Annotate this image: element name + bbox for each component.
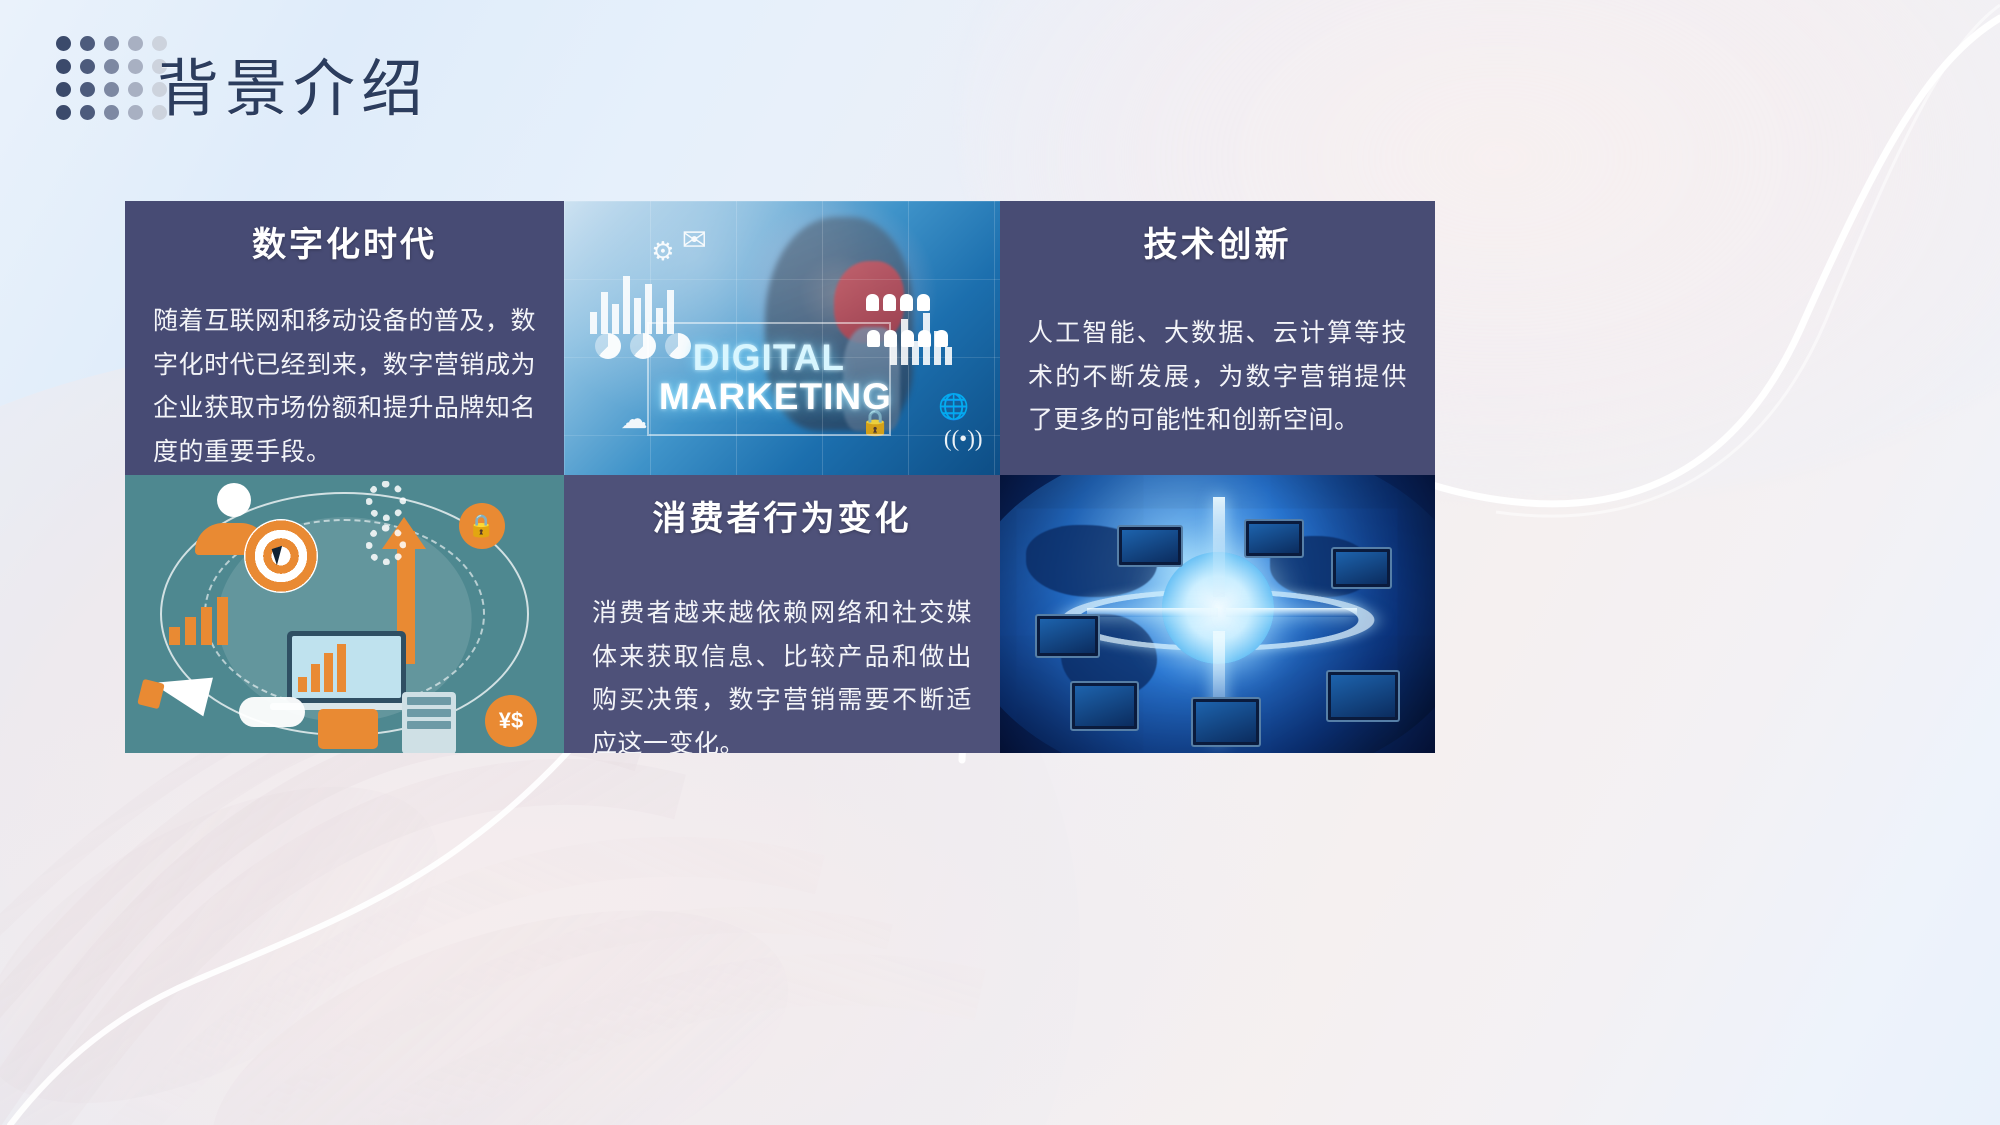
content-grid: 数字化时代 随着互联网和移动设备的普及，数字化时代已经到来，数字营销成为企业获取… [125, 201, 1435, 753]
bar-chart-icon [169, 597, 228, 645]
grid-dot [104, 59, 119, 74]
wallet-icon [318, 709, 378, 749]
grid-dot [80, 82, 95, 97]
data-beam [1226, 608, 1357, 617]
grid-dot [56, 105, 71, 120]
digital-marketing-label: DIGITAL MARKETING [647, 322, 891, 436]
card-title-digital-era: 数字化时代 [153, 227, 536, 264]
laptop-icon [1035, 614, 1100, 658]
grid-dot [128, 82, 143, 97]
lock-icon: 🔒 [459, 503, 505, 549]
label-line-1: DIGITAL [659, 338, 879, 377]
card-tech-innovation[interactable]: 技术创新 人工智能、大数据、云计算等技术的不断发展，为数字营销提供了更多的可能性… [1000, 201, 1435, 475]
data-beam [1213, 497, 1225, 597]
person-head-icon [217, 483, 251, 517]
card-digital-era[interactable]: 数字化时代 随着互联网和移动设备的普及，数字化时代已经到来，数字营销成为企业获取… [125, 201, 564, 475]
card-title-tech-innovation: 技术创新 [1028, 227, 1407, 264]
label-line-2: MARKETING [659, 377, 879, 416]
grid-dot [56, 82, 71, 97]
calculator-icon [402, 692, 456, 753]
card-consumer-behavior[interactable]: 消费者行为变化 消费者越来越依赖网络和社交媒体来获取信息、比较产品和做出购买决策… [564, 475, 1000, 753]
marketing-infographic: 🔒 ¥$ [125, 475, 564, 753]
laptop-icon [1331, 547, 1392, 589]
digital-marketing-photo: ✉ ⚙ ☁ 🔒 🌐 ((•)) DIGITAL MARKETING [564, 201, 1000, 475]
grid-dot [80, 36, 95, 51]
grid-dot [104, 36, 119, 51]
slide-header: 背景介绍 [0, 0, 2000, 170]
laptop-icon [1191, 697, 1261, 747]
gears-icon [366, 481, 406, 569]
global-network-photo [1000, 475, 1435, 753]
card-title-consumer-behavior: 消费者行为变化 [592, 501, 972, 538]
grid-dot [80, 105, 95, 120]
globe-icon: 🌐 [938, 393, 969, 422]
laptop-icon [1117, 525, 1182, 567]
card-body-consumer-behavior: 消费者越来越依赖网络和社交媒体来获取信息、比较产品和做出购买决策，数字营销需要不… [592, 592, 972, 753]
grid-dot [80, 59, 95, 74]
grid-dot [104, 82, 119, 97]
grid-dot [128, 105, 143, 120]
handshake-icon [239, 697, 305, 727]
card-body-digital-era: 随着互联网和移动设备的普及，数字化时代已经到来，数字营销成为企业获取市场份额和提… [153, 300, 536, 474]
laptop-icon [1070, 681, 1140, 731]
page-title: 背景介绍 [157, 38, 429, 128]
card-body-tech-innovation: 人工智能、大数据、云计算等技术的不断发展，为数字营销提供了更多的可能性和创新空间… [1028, 312, 1407, 443]
grid-dot [104, 105, 119, 120]
grid-dot [56, 59, 71, 74]
image-tile-global-network[interactable] [1000, 475, 1435, 753]
laptop-icon [287, 631, 406, 703]
grid-dot [56, 36, 71, 51]
image-tile-marketing-infographic[interactable]: 🔒 ¥$ [125, 475, 564, 753]
data-beam [1087, 608, 1218, 617]
grid-dot [128, 36, 143, 51]
currency-coin-icon: ¥$ [485, 695, 537, 747]
wifi-icon: ((•)) [944, 426, 983, 452]
people-icon [866, 294, 930, 311]
laptop-screen-chart [292, 636, 401, 698]
image-tile-digital-marketing[interactable]: ✉ ⚙ ☁ 🔒 🌐 ((•)) DIGITAL MARKETING [564, 201, 1000, 475]
gear-icon: ⚙ [651, 237, 674, 267]
laptop-icon [1244, 519, 1305, 558]
envelope-icon: ✉ [682, 223, 707, 258]
laptop-icon [1326, 670, 1400, 723]
grid-dot [128, 59, 143, 74]
cloud-icon: ☁ [621, 404, 648, 435]
